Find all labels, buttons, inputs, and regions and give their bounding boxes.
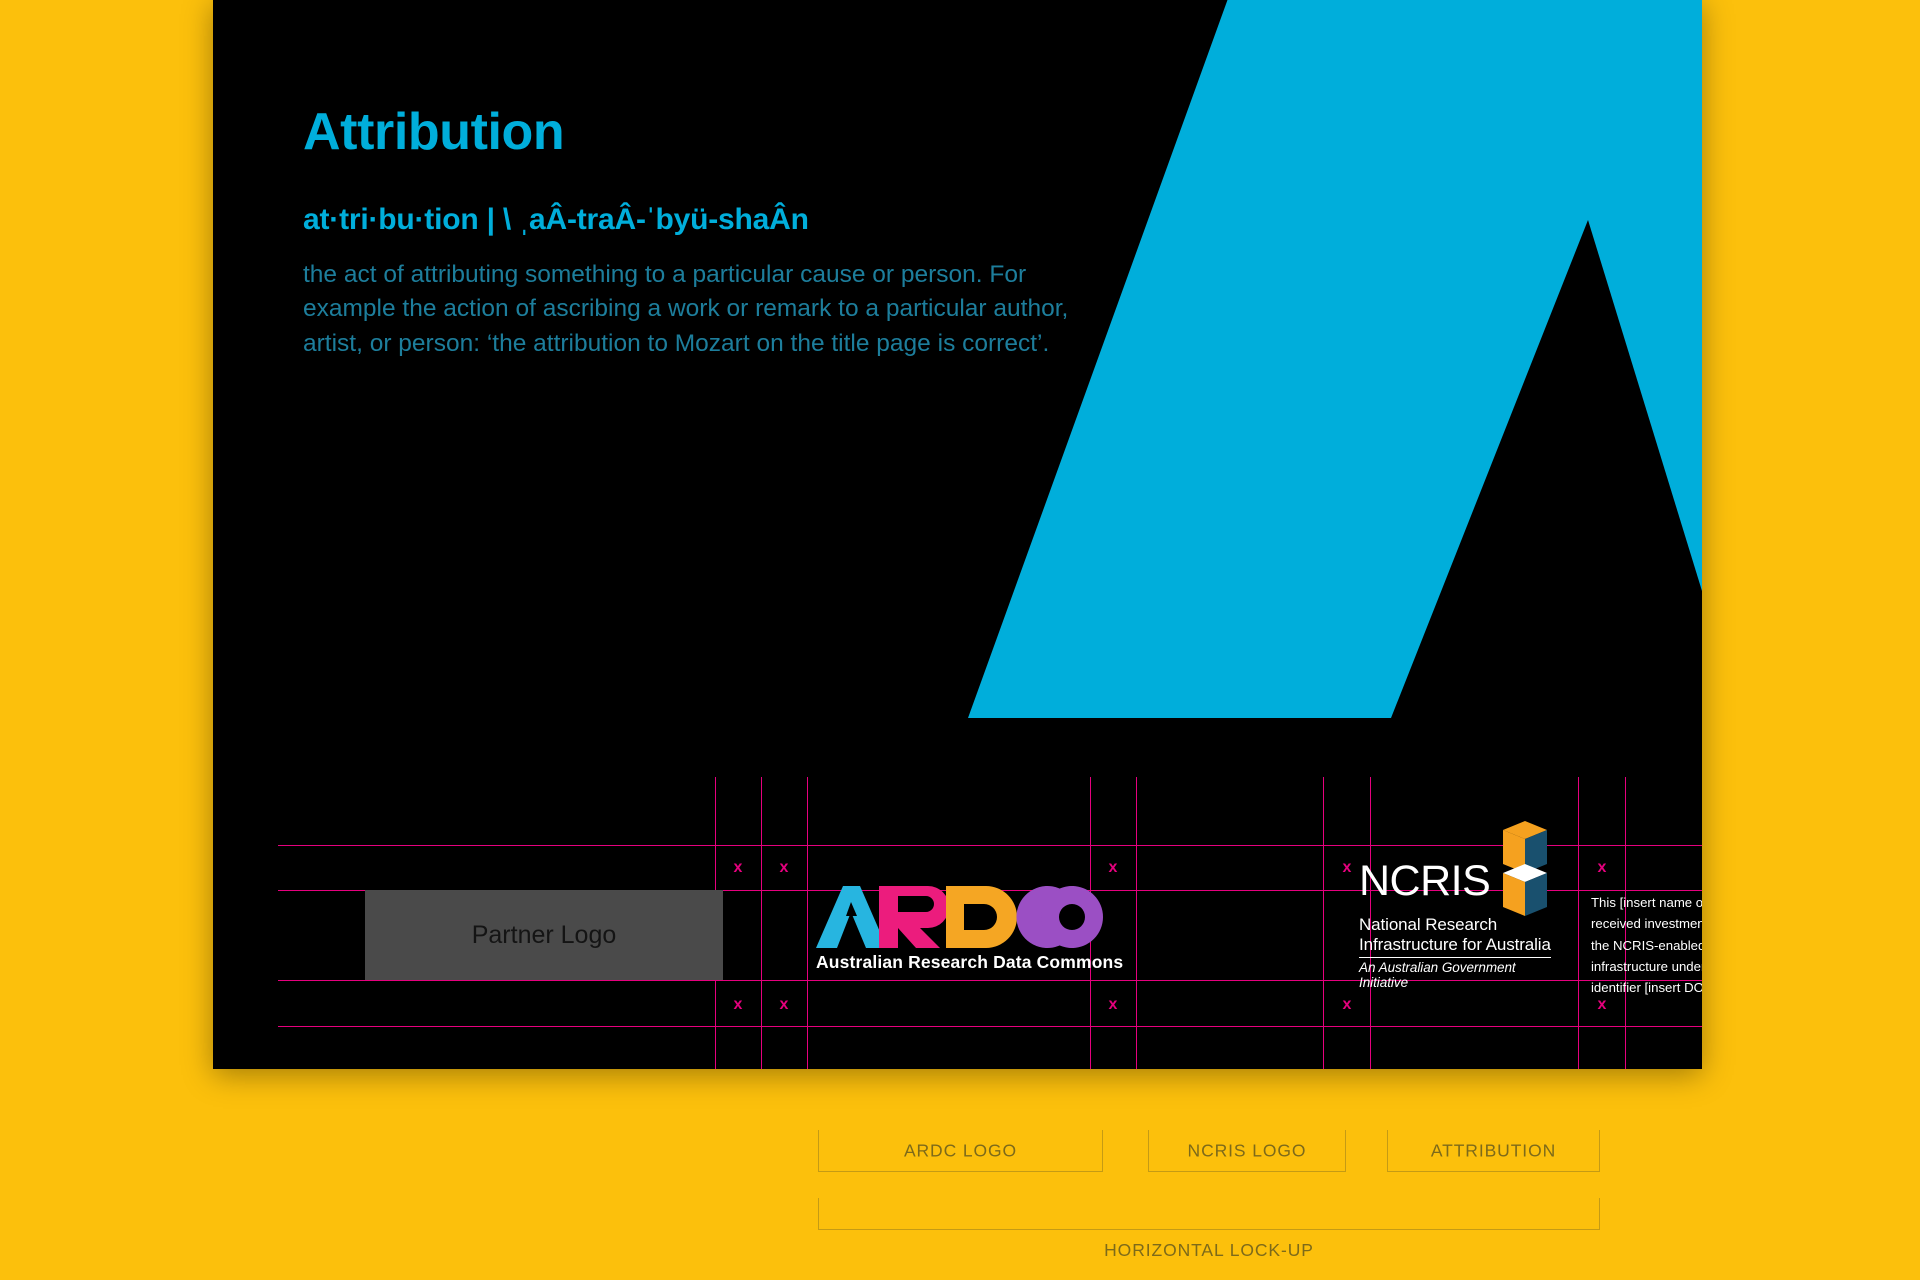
measure-mark-x: x [1109, 860, 1118, 876]
ardc-tagline: Australian Research Data Commons [816, 952, 1123, 973]
ardc-logo: Australian Research Data Commons [816, 886, 1123, 973]
partner-logo-placeholder: Partner Logo [365, 890, 723, 980]
callout-horizontal-lockup-label: HORIZONTAL LOCK-UP [818, 1240, 1600, 1261]
callout-horizontal-lockup-bracket [818, 1198, 1600, 1230]
measure-mark-x: x [780, 997, 789, 1013]
attribution-line: This [insert name of] project [1591, 892, 1702, 913]
ncris-cube-icon [1481, 821, 1555, 921]
slide-panel: Attribution at·tri·bu·tion | \ ˌaÂ-traÂ-… [213, 0, 1702, 1069]
ncris-subtitle-line-2: Infrastructure for Australia [1359, 935, 1559, 954]
attribution-line: identifier [insert DOI] [1591, 977, 1702, 998]
ncris-logo: NCRIS National Research Infrastructure f… [1359, 860, 1559, 990]
measure-mark-x: x [734, 997, 743, 1013]
callout-ardc-logo-label: ARDC LOGO [819, 1140, 1102, 1161]
measure-mark-x: x [734, 860, 743, 876]
measure-mark-x: x [1109, 997, 1118, 1013]
attribution-line: infrastructure under investment [1591, 956, 1702, 977]
ncris-government-line: An Australian Government Initiative [1359, 960, 1559, 990]
guide-hline-4 [278, 1026, 1702, 1027]
attribution-line: the NCRIS-enabled ARDC [1591, 935, 1702, 956]
ncris-wordmark: NCRIS [1359, 860, 1490, 903]
callout-ncris-logo-label: NCRIS LOGO [1149, 1140, 1345, 1161]
callout-ardc-logo: ARDC LOGO [818, 1130, 1103, 1172]
measure-mark-x: x [1343, 860, 1352, 876]
measure-mark-x: x [1598, 860, 1607, 876]
callout-attribution: ATTRIBUTION [1387, 1130, 1600, 1172]
measure-mark-x: x [1343, 997, 1352, 1013]
callout-ncris-logo: NCRIS LOGO [1148, 1130, 1346, 1172]
partner-logo-label: Partner Logo [472, 921, 617, 950]
callout-attribution-label: ATTRIBUTION [1388, 1140, 1599, 1161]
ardc-wordmark-icon [816, 886, 1106, 948]
attribution-line: received investment from [1591, 913, 1702, 934]
attribution-statement: This [insert name of] project received i… [1591, 892, 1702, 998]
ncris-divider [1359, 957, 1551, 958]
measure-mark-x: x [1598, 997, 1607, 1013]
measure-mark-x: x [780, 860, 789, 876]
